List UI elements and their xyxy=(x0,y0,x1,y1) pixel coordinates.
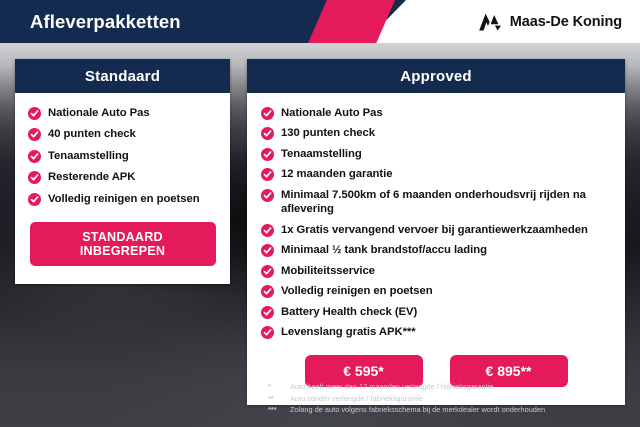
standaard-feature-text: 40 punten check xyxy=(48,127,136,141)
approved-feature-text: 12 maanden garantie xyxy=(281,167,392,181)
standaard-feature-text: Tenaamstelling xyxy=(48,149,129,163)
footnote-text: Auto zonder verlengde / fabrieksgarantie xyxy=(290,394,423,404)
card-standaard-body: Nationale Auto Pas40 punten checkTenaams… xyxy=(15,93,230,284)
footnote-row: **Auto zonder verlengde / fabrieksgarant… xyxy=(268,394,618,404)
card-standaard-title: Standaard xyxy=(85,68,160,85)
list-item: Battery Health check (EV) xyxy=(247,305,625,319)
standaard-button-row: STANDAARD INBEGREPEN xyxy=(15,213,230,268)
list-item: Tenaamstelling xyxy=(15,149,230,163)
footnote-mark: ** xyxy=(268,394,290,403)
list-item: 12 maanden garantie xyxy=(247,167,625,181)
footnote-mark: * xyxy=(268,382,290,391)
check-circle-icon xyxy=(261,189,274,202)
card-standaard-header: Standaard xyxy=(15,59,230,93)
approved-feature-text: Battery Health check (EV) xyxy=(281,305,417,319)
check-circle-icon xyxy=(28,193,41,206)
footnote-text: Zolang de auto volgens fabrieksschema bi… xyxy=(290,405,545,415)
approved-feature-text: 1x Gratis vervangend vervoer bij garanti… xyxy=(281,223,588,237)
list-item: Minimaal 7.500km of 6 maanden onderhouds… xyxy=(247,188,625,217)
list-item: Nationale Auto Pas xyxy=(247,106,625,120)
brand-name: Maas-De Koning xyxy=(510,14,622,30)
list-item: Nationale Auto Pas xyxy=(15,106,230,120)
check-circle-icon xyxy=(261,244,274,257)
check-circle-icon xyxy=(261,148,274,161)
list-item: Tenaamstelling xyxy=(247,147,625,161)
footnote-mark: *** xyxy=(268,405,290,414)
approved-feature-list: Nationale Auto Pas130 punten checkTenaam… xyxy=(247,106,625,339)
promo-page: Afleverpakketten Maas-De Koning Standaar… xyxy=(0,0,640,427)
card-approved: Approved Nationale Auto Pas130 punten ch… xyxy=(247,59,625,405)
list-item: Minimaal ½ tank brandstof/accu lading xyxy=(247,243,625,257)
approved-feature-text: Volledig reinigen en poetsen xyxy=(281,284,433,298)
check-circle-icon xyxy=(261,168,274,181)
list-item: Volledig reinigen en poetsen xyxy=(15,192,230,206)
standaard-feature-list: Nationale Auto Pas40 punten checkTenaams… xyxy=(15,106,230,206)
standaard-feature-text: Resterende APK xyxy=(48,170,135,184)
card-approved-header: Approved xyxy=(247,59,625,93)
approved-feature-text: Nationale Auto Pas xyxy=(281,106,383,120)
approved-feature-text: Minimaal ½ tank brandstof/accu lading xyxy=(281,243,487,257)
check-circle-icon xyxy=(28,171,41,184)
standaard-inbegrepen-button[interactable]: STANDAARD INBEGREPEN xyxy=(30,222,216,266)
check-circle-icon xyxy=(28,150,41,163)
check-circle-icon xyxy=(28,107,41,120)
check-circle-icon xyxy=(261,285,274,298)
header-pink-wedge xyxy=(285,0,395,43)
list-item: Mobiliteitsservice xyxy=(247,264,625,278)
list-item: Volledig reinigen en poetsen xyxy=(247,284,625,298)
brand-logo: Maas-De Koning xyxy=(476,0,622,43)
approved-feature-text: Tenaamstelling xyxy=(281,147,362,161)
footnote-row: ***Zolang de auto volgens fabrieksschema… xyxy=(268,405,618,415)
approved-feature-text: Levenslang gratis APK*** xyxy=(281,325,416,339)
check-circle-icon xyxy=(261,107,274,120)
footnotes: *Auto heeft meer dan 12 maanden verlengd… xyxy=(268,382,618,417)
card-standaard: Standaard Nationale Auto Pas40 punten ch… xyxy=(15,59,230,284)
check-circle-icon xyxy=(28,128,41,141)
standaard-feature-text: Volledig reinigen en poetsen xyxy=(48,192,200,206)
check-circle-icon xyxy=(261,265,274,278)
list-item: Resterende APK xyxy=(15,170,230,184)
approved-feature-text: Mobiliteitsservice xyxy=(281,264,375,278)
check-circle-icon xyxy=(261,127,274,140)
check-circle-icon xyxy=(261,326,274,339)
standaard-feature-text: Nationale Auto Pas xyxy=(48,106,150,120)
page-title: Afleverpakketten xyxy=(30,0,181,43)
card-approved-body: Nationale Auto Pas130 punten checkTenaam… xyxy=(247,93,625,405)
maas-de-koning-m-logo-icon xyxy=(476,12,502,32)
footnote-row: *Auto heeft meer dan 12 maanden verlengd… xyxy=(268,382,618,392)
card-approved-title: Approved xyxy=(400,68,472,85)
list-item: Levenslang gratis APK*** xyxy=(247,325,625,339)
list-item: 40 punten check xyxy=(15,127,230,141)
footnote-text: Auto heeft meer dan 12 maanden verlengde… xyxy=(290,382,493,392)
list-item: 130 punten check xyxy=(247,126,625,140)
list-item: 1x Gratis vervangend vervoer bij garanti… xyxy=(247,223,625,237)
check-circle-icon xyxy=(261,306,274,319)
approved-feature-text: Minimaal 7.500km of 6 maanden onderhouds… xyxy=(281,188,615,217)
check-circle-icon xyxy=(261,224,274,237)
approved-feature-text: 130 punten check xyxy=(281,126,375,140)
page-header: Afleverpakketten Maas-De Koning xyxy=(0,0,640,43)
